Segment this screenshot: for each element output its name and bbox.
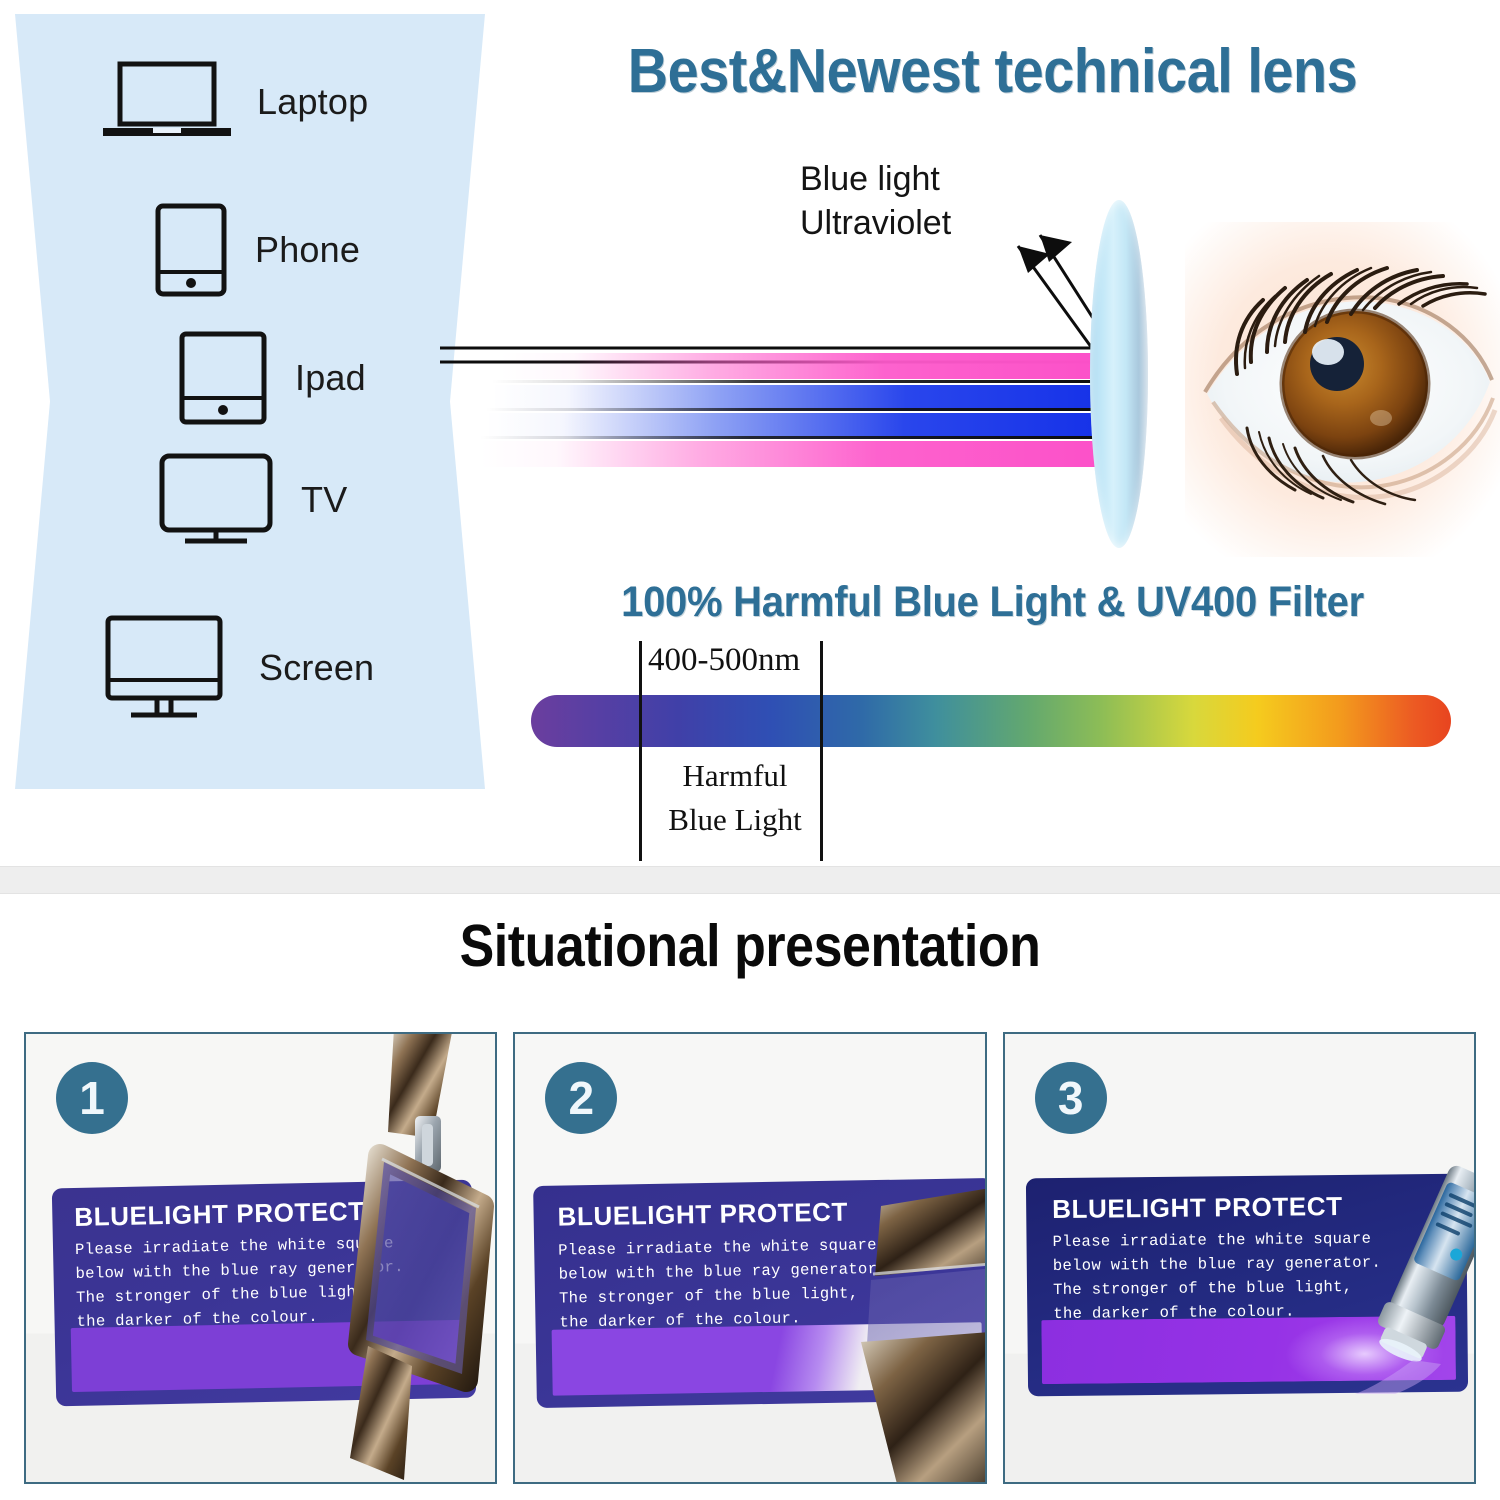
blue-ray-generator-icon <box>1355 1164 1476 1394</box>
device-label: Laptop <box>257 81 368 123</box>
section-divider <box>0 866 1500 894</box>
device-label: Ipad <box>295 357 366 399</box>
spectrum-range-label: 400-500nm <box>648 642 800 679</box>
section-title: Situational presentation <box>90 912 1410 980</box>
laptop-icon <box>103 58 231 146</box>
ray-line-1 <box>492 380 1120 383</box>
phone-icon <box>153 202 229 298</box>
spectrum-marker-400nm <box>639 641 642 861</box>
device-list: Laptop Phone Ipad <box>95 34 455 754</box>
ray-line-3 <box>480 436 1120 439</box>
device-row-ipad: Ipad <box>177 330 366 426</box>
monitor-icon <box>103 614 233 722</box>
step-badge: 1 <box>56 1062 128 1134</box>
light-band-pink-top <box>500 353 1120 379</box>
device-row-phone: Phone <box>153 202 360 298</box>
demo-card-2: 2 BLUELIGHT PROTECT Please irradiate the… <box>513 1032 986 1484</box>
visible-spectrum-bar <box>531 695 1451 747</box>
spectrum-section: 100% Harmful Blue Light & UV400 Filter 4… <box>500 578 1485 858</box>
device-row-tv: TV <box>157 452 347 548</box>
demo-card-1: 1 BLUELIGHT PROTECT Please irradiate the… <box>24 1032 497 1484</box>
ray-line-2 <box>486 408 1120 411</box>
technical-lens-section: Laptop Phone Ipad <box>0 0 1500 866</box>
spectrum-marker-500nm <box>820 641 823 861</box>
demo-card-list: 1 BLUELIGHT PROTECT Please irradiate the… <box>24 1032 1476 1484</box>
device-label: TV <box>301 479 347 521</box>
harmful-label-line2: Blue Light <box>650 798 820 842</box>
glasses-icon <box>845 1184 986 1484</box>
device-row-laptop: Laptop <box>103 58 368 146</box>
page-title: Best&Newest technical lens <box>554 36 1432 107</box>
device-label: Phone <box>255 229 360 271</box>
situational-presentation-section: Situational presentation 1 BLUELIGHT PRO… <box>0 894 1500 1500</box>
eyeglass-lens-icon <box>1090 200 1148 548</box>
device-label: Screen <box>259 647 374 689</box>
human-eye-icon <box>1185 222 1500 557</box>
test-card-heading: BLUELIGHT PROTECT <box>1052 1191 1343 1225</box>
glasses-icon <box>276 1032 497 1484</box>
step-badge: 3 <box>1035 1062 1107 1134</box>
test-card-heading: BLUELIGHT PROTECT <box>558 1197 849 1233</box>
light-band-pink-bottom <box>480 441 1120 467</box>
step-badge: 2 <box>545 1062 617 1134</box>
spectrum-title: 100% Harmful Blue Light & UV400 Filter <box>534 578 1450 627</box>
demo-card-3: 3 BLUELIGHT PROTECT Please irradiate the… <box>1003 1032 1476 1484</box>
harmful-label-line1: Harmful <box>650 754 820 798</box>
harmful-blue-light-label: Harmful Blue Light <box>650 754 820 842</box>
tv-icon <box>157 452 275 548</box>
device-row-screen: Screen <box>103 614 374 722</box>
test-card-body: Please irradiate the white square below … <box>1052 1227 1381 1327</box>
tablet-icon <box>177 330 269 426</box>
test-card-body: Please irradiate the white square below … <box>558 1233 888 1335</box>
